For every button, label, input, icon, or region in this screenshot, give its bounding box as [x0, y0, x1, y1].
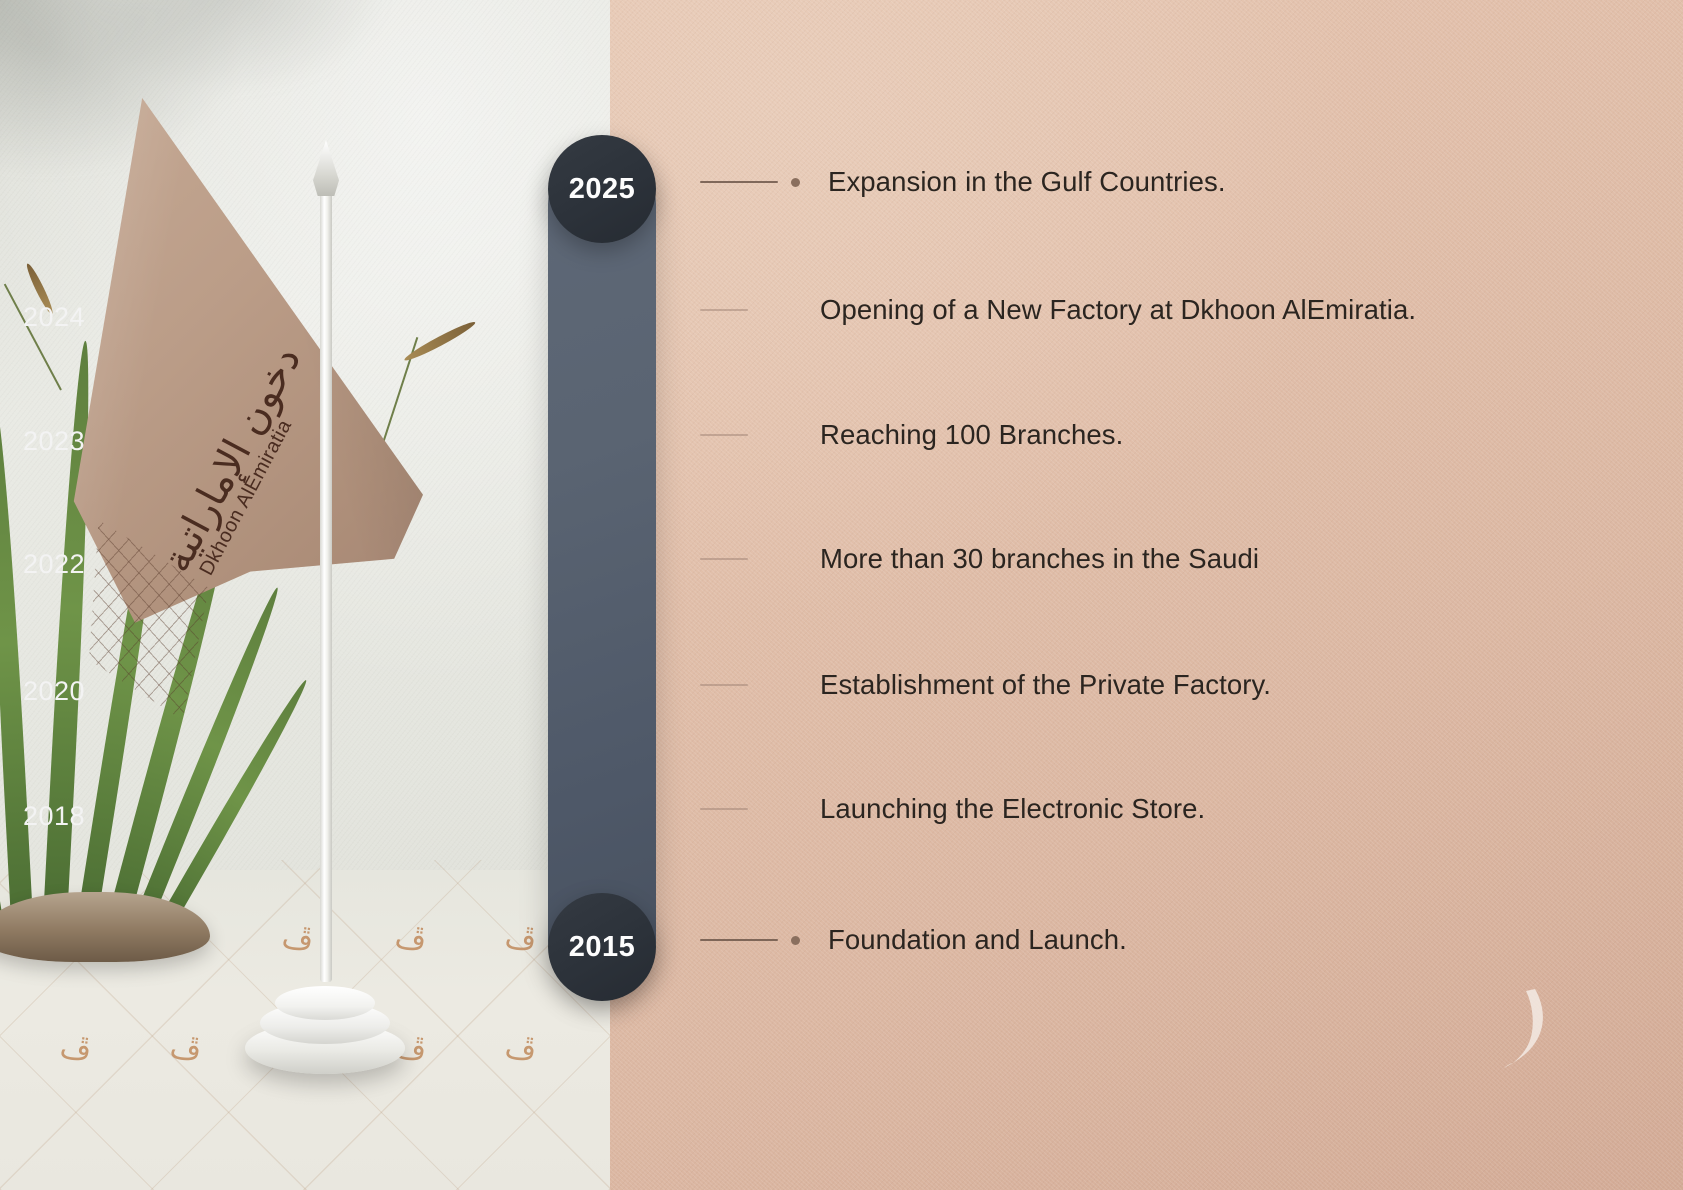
flag-finial: [313, 140, 339, 196]
flag-pole: [320, 182, 332, 982]
year-label: 2024: [23, 302, 85, 332]
timeline-node-2020[interactable]: 2020: [0, 676, 108, 707]
leader-line: [700, 558, 748, 559]
year-label: 2015: [569, 931, 636, 964]
year-label: 2022: [23, 549, 85, 579]
entry-text: Foundation and Launch.: [828, 924, 1127, 956]
dkhoon-swoosh-logo-icon: [1495, 985, 1555, 1070]
timeline-entry[interactable]: Launching the Electronic Store.: [700, 789, 1205, 829]
motif-icon: ڦ: [503, 1033, 538, 1067]
timeline-entry[interactable]: Expansion in the Gulf Countries.: [700, 162, 1226, 202]
timeline-node-2018[interactable]: 2018: [0, 801, 108, 832]
year-label: 2018: [23, 801, 85, 831]
timeline-entry[interactable]: Establishment of the Private Factory.: [700, 665, 1271, 705]
entry-text: Reaching 100 Branches.: [820, 419, 1123, 451]
motif-icon: ڦ: [168, 1033, 203, 1067]
table-flag: دخون الإماراتية Dkhoon AlEmiratia: [55, 70, 475, 1030]
entry-dot-icon: [791, 936, 800, 945]
entry-text: More than 30 branches in the Saudi: [820, 543, 1259, 575]
timeline-entry[interactable]: Reaching 100 Branches.: [700, 415, 1123, 455]
timeline-node-2023[interactable]: 2023: [0, 426, 108, 457]
flag-photo-panel: ڦ ڦ ڦ ڦ ڦ ڦ ڦ ڦ ڦ ڦ: [0, 0, 610, 1190]
flag-base-tier-top: [275, 986, 375, 1020]
entry-dot-icon: [791, 178, 800, 187]
entry-text: Launching the Electronic Store.: [820, 793, 1205, 825]
timeline-entry[interactable]: Opening of a New Factory at Dkhoon AlEmi…: [700, 290, 1416, 330]
leader-line: [700, 181, 778, 183]
entry-text: Opening of a New Factory at Dkhoon AlEmi…: [820, 294, 1416, 326]
motif-icon: ڦ: [58, 1033, 93, 1067]
entry-text: Establishment of the Private Factory.: [820, 669, 1271, 701]
year-label: 2020: [23, 676, 85, 706]
leader-line: [700, 309, 748, 310]
timeline-entry[interactable]: More than 30 branches in the Saudi: [700, 539, 1259, 579]
year-label: 2023: [23, 426, 85, 456]
timeline-track: [548, 150, 656, 995]
timeline-node-2025[interactable]: 2025: [548, 135, 656, 243]
timeline-entry[interactable]: Foundation and Launch.: [700, 920, 1127, 960]
motif-icon: ڦ: [503, 923, 538, 957]
leader-line: [700, 684, 748, 685]
timeline-node-2022[interactable]: 2022: [0, 549, 108, 580]
entry-text: Expansion in the Gulf Countries.: [828, 166, 1226, 198]
timeline-node-2024[interactable]: 2024: [0, 302, 108, 333]
year-label: 2025: [569, 173, 636, 206]
leader-line: [700, 808, 748, 809]
leader-line: [700, 434, 748, 435]
timeline-node-2015[interactable]: 2015: [548, 893, 656, 1001]
leader-line: [700, 939, 778, 941]
infographic-canvas: ڦ ڦ ڦ ڦ ڦ ڦ ڦ ڦ ڦ ڦ: [0, 0, 1683, 1190]
